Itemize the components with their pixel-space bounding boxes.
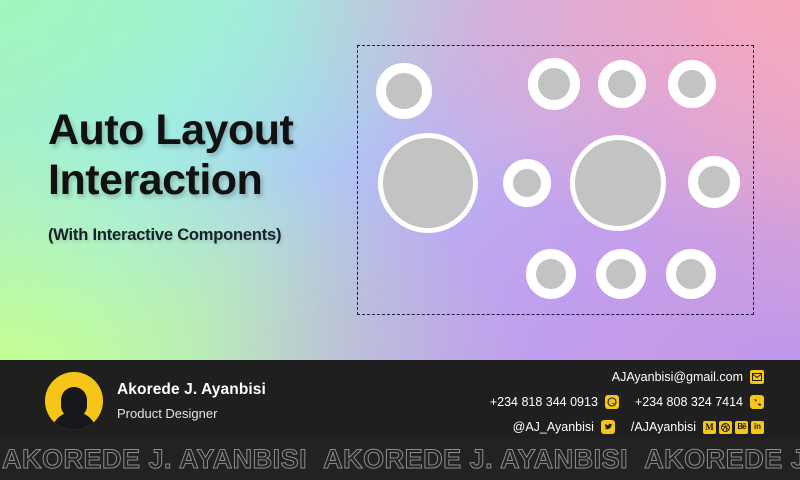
circle-mid-small-right[interactable] bbox=[688, 156, 740, 208]
twitter-handle[interactable]: @AJ_Ayanbisi bbox=[513, 421, 594, 434]
circle-mid-large-left[interactable] bbox=[378, 133, 478, 233]
whatsapp-number[interactable]: +234 818 344 0913 bbox=[490, 396, 598, 409]
page-subtitle: (With Interactive Components) bbox=[48, 226, 348, 245]
hero-text-block: Auto Layout Interaction (With Interactiv… bbox=[48, 106, 348, 245]
call-number[interactable]: +234 808 324 7414 bbox=[635, 396, 743, 409]
page-title: Auto Layout Interaction bbox=[48, 106, 348, 206]
avatar-shoulders bbox=[51, 412, 97, 430]
twitter-icon[interactable] bbox=[601, 420, 615, 434]
marquee-item: AKOREDE J. AYANBISI bbox=[644, 444, 800, 475]
contact-row-phones: +234 818 344 0913 +234 808 324 7414 bbox=[490, 395, 764, 409]
hero-canvas: Auto Layout Interaction (With Interactiv… bbox=[0, 0, 800, 360]
marquee-item: AKOREDE J. AYANBISI bbox=[2, 444, 307, 475]
social-icon-group: M Bē in bbox=[703, 421, 764, 434]
profile-role: Product Designer bbox=[117, 406, 266, 421]
title-line-2: Interaction bbox=[48, 156, 348, 206]
contact-row-social: @AJ_Ayanbisi /AJAyanbisi M Bē in bbox=[490, 420, 764, 434]
circle-bottom-3[interactable] bbox=[666, 249, 716, 299]
dribbble-icon[interactable] bbox=[719, 421, 732, 434]
profile-block: Akorede J. Ayanbisi Product Designer bbox=[45, 372, 266, 430]
medium-icon[interactable]: M bbox=[703, 421, 716, 434]
circle-top-4[interactable] bbox=[668, 60, 716, 108]
circle-top-3[interactable] bbox=[598, 60, 646, 108]
circle-top-2[interactable] bbox=[528, 58, 580, 110]
circle-top-1[interactable] bbox=[376, 63, 432, 119]
circle-bottom-2[interactable] bbox=[596, 249, 646, 299]
phone-icon[interactable] bbox=[750, 395, 764, 409]
email-text[interactable]: AJAyanbisi@gmail.com bbox=[612, 371, 743, 384]
profile-text: Akorede J. Ayanbisi Product Designer bbox=[117, 381, 266, 421]
contact-block: AJAyanbisi@gmail.com +234 818 344 0913 +… bbox=[490, 370, 764, 434]
marquee-item: AKOREDE J. AYANBISI bbox=[323, 444, 628, 475]
marquee-strip: AKOREDE J. AYANBISIAKOREDE J. AYANBISIAK… bbox=[0, 438, 800, 480]
dashed-selection-frame[interactable] bbox=[357, 45, 754, 315]
title-line-1: Auto Layout bbox=[48, 106, 293, 154]
social-handle[interactable]: /AJAyanbisi bbox=[631, 421, 696, 434]
circle-mid-small-center[interactable] bbox=[503, 159, 551, 207]
avatar bbox=[45, 372, 103, 430]
profile-name: Akorede J. Ayanbisi bbox=[117, 381, 266, 399]
contact-row-email: AJAyanbisi@gmail.com bbox=[490, 370, 764, 384]
behance-icon[interactable]: Bē bbox=[735, 421, 748, 434]
linkedin-icon[interactable]: in bbox=[751, 421, 764, 434]
whatsapp-icon[interactable] bbox=[605, 395, 619, 409]
circle-bottom-1[interactable] bbox=[526, 249, 576, 299]
marquee-text: AKOREDE J. AYANBISIAKOREDE J. AYANBISIAK… bbox=[0, 444, 800, 475]
footer-bar: Akorede J. Ayanbisi Product Designer AJA… bbox=[0, 360, 800, 480]
envelope-icon[interactable] bbox=[750, 370, 764, 384]
circle-mid-large-right[interactable] bbox=[570, 135, 666, 231]
